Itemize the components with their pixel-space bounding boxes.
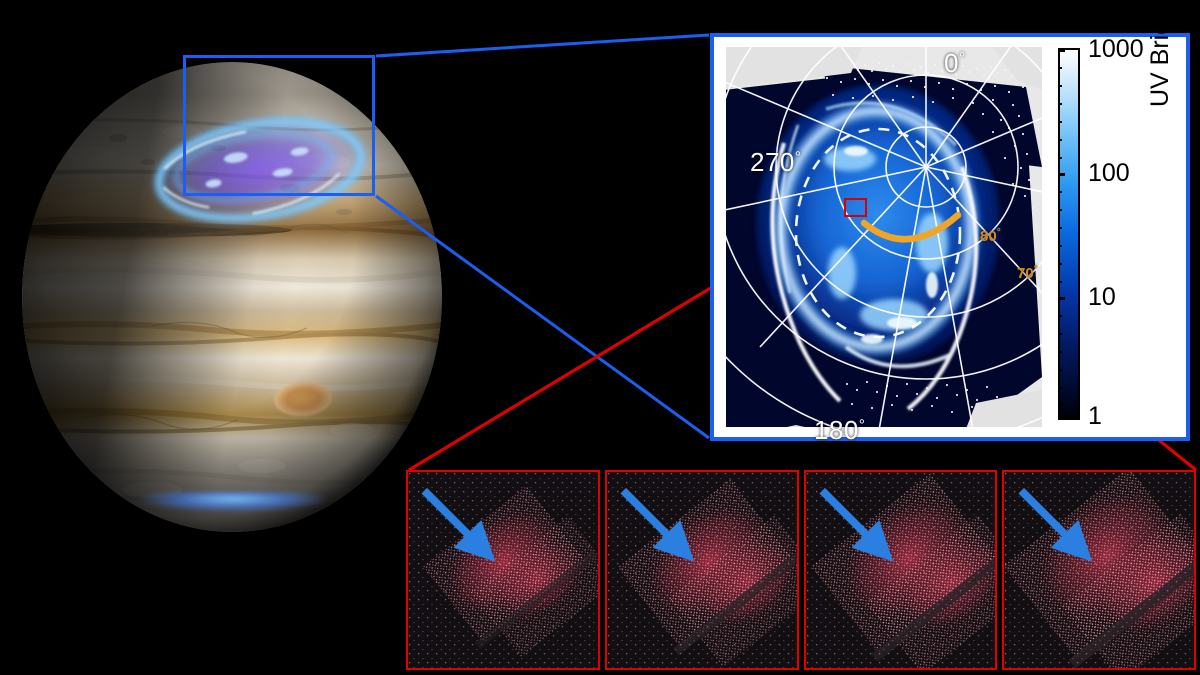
detail-panel-4 xyxy=(1002,470,1196,670)
detail-panel-3 xyxy=(804,470,998,670)
longitude-label-0: 0° xyxy=(944,48,965,79)
polar-projection-panel: 0° 270° 180° 80° 70° 1000 100 10 1 UV xyxy=(710,33,1190,441)
detail-panel-1 xyxy=(406,470,600,670)
colorbar-label-1: 1 xyxy=(1088,404,1102,429)
colorbar-label-1000: 1000 xyxy=(1088,37,1144,62)
colorbar-label-10: 10 xyxy=(1088,285,1116,310)
feature-arrow-icon xyxy=(817,484,904,574)
longitude-label-180: 180° xyxy=(814,415,865,446)
latitude-label-70: 70° xyxy=(1017,264,1038,282)
colorbar-tick-1 xyxy=(1058,416,1065,419)
bottom-panel-row xyxy=(406,470,1196,670)
latitude-label-80: 80° xyxy=(980,227,1001,245)
feature-arrow-icon xyxy=(618,484,705,574)
colorbar-tick-1000 xyxy=(1058,49,1065,52)
colorbar-tick-10 xyxy=(1058,297,1065,300)
longitude-label-270: 270° xyxy=(750,147,801,178)
polar-zoom-box xyxy=(844,198,867,217)
jupiter-zoom-box xyxy=(183,55,375,196)
colorbar-tick-100 xyxy=(1058,173,1065,176)
colorbar-label-100: 100 xyxy=(1088,161,1130,186)
detail-panel-2 xyxy=(605,470,799,670)
feature-arrow-icon xyxy=(1016,484,1103,574)
figure-canvas: 0° 270° 180° 80° 70° 1000 100 10 1 UV xyxy=(0,0,1200,675)
south-aurora-glow xyxy=(118,492,348,532)
feature-arrow-icon xyxy=(419,484,506,574)
colorbar-title: UV Brightness [kR] xyxy=(1146,0,1175,107)
